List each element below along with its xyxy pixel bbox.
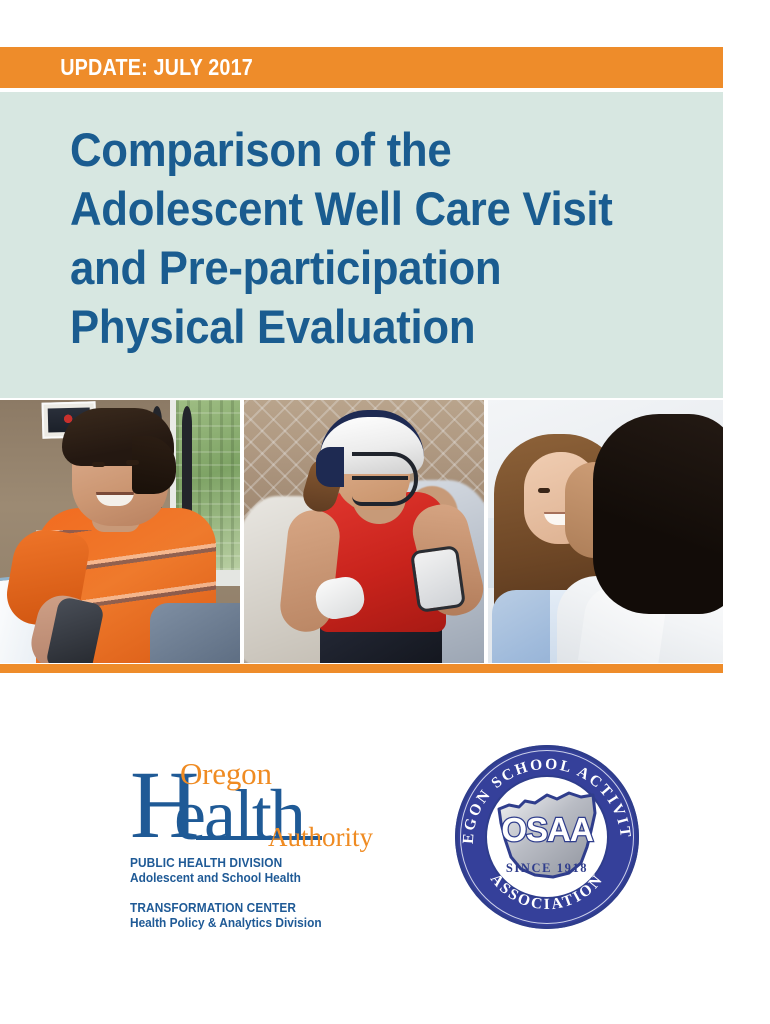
photo1-boy-eye-right bbox=[126, 460, 139, 465]
logo-area: H ealth Oregon Authority PUBLIC HEALTH D… bbox=[0, 742, 770, 942]
photo-softball-player bbox=[244, 400, 484, 663]
photo1-boy-jeans bbox=[150, 603, 240, 663]
oha-word-authority: Authority bbox=[268, 822, 373, 853]
oha-division-text: PUBLIC HEALTH DIVISION Adolescent and Sc… bbox=[130, 856, 380, 930]
title-line-1: Comparison of the bbox=[70, 120, 647, 179]
title-panel: Comparison of the Adolescent Well Care V… bbox=[0, 92, 723, 398]
document-cover-page: UPDATE: JULY 2017 Comparison of the Adol… bbox=[0, 0, 770, 1024]
update-label: UPDATE: JULY 2017 bbox=[0, 54, 253, 81]
osaa-since-text: SINCE 1918 bbox=[455, 861, 639, 876]
oha-division-1-sub: Adolescent and School Health bbox=[130, 871, 368, 885]
title-line-2: Adolescent Well Care Visit bbox=[70, 179, 647, 238]
photo2-batting-glove bbox=[410, 545, 466, 613]
oha-wordmark: H ealth Oregon Authority bbox=[130, 756, 380, 852]
photo1-boy-hair bbox=[62, 408, 174, 466]
oha-word-oregon: Oregon bbox=[180, 756, 272, 792]
update-banner: UPDATE: JULY 2017 bbox=[0, 47, 723, 88]
photo2-helmet-face-cage bbox=[352, 452, 418, 506]
oregon-health-authority-logo: H ealth Oregon Authority PUBLIC HEALTH D… bbox=[130, 756, 380, 852]
osaa-acronym: OSAA bbox=[455, 811, 639, 849]
page-title: Comparison of the Adolescent Well Care V… bbox=[70, 120, 690, 356]
photo-teen-girl-with-clinician bbox=[488, 400, 723, 663]
cover-photo-strip bbox=[0, 400, 723, 663]
title-line-3: and Pre-participation bbox=[70, 238, 647, 297]
oha-text-gap bbox=[130, 885, 380, 901]
oha-division-2: TRANSFORMATION CENTER bbox=[130, 901, 368, 915]
photo3-clinician-hair bbox=[593, 414, 723, 614]
photo1-boy-eye-left bbox=[92, 462, 105, 467]
oha-division-2-sub: Health Policy & Analytics Division bbox=[130, 916, 368, 930]
photo-teen-boy-exam-room bbox=[0, 400, 240, 663]
osaa-seal-logo: OREGON SCHOOL ACTIVITIES ASSOCIATION bbox=[455, 745, 639, 929]
title-line-4: Physical Evaluation bbox=[70, 297, 647, 356]
oha-division-1: PUBLIC HEALTH DIVISION bbox=[130, 856, 368, 870]
photo3-girl-eye-left bbox=[538, 488, 550, 493]
bottom-orange-rule bbox=[0, 664, 723, 673]
